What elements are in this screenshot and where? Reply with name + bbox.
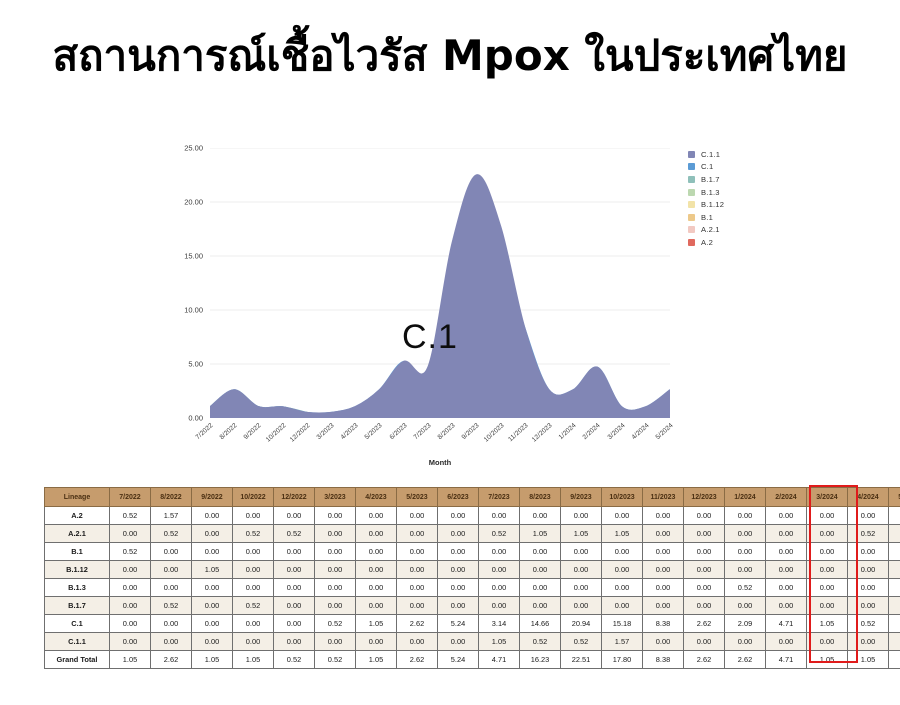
table-cell: 2.09 bbox=[725, 615, 766, 633]
table-cell: 0.00 bbox=[889, 597, 900, 615]
table-cell: 0.00 bbox=[684, 561, 725, 579]
table-cell: 3.14 bbox=[479, 615, 520, 633]
table-cell: 0.00 bbox=[766, 633, 807, 651]
table-cell: 0.00 bbox=[192, 633, 233, 651]
table-cell: 0.00 bbox=[479, 561, 520, 579]
legend-item-B-1-3[interactable]: B.1.3 bbox=[688, 186, 778, 199]
series-C-1-1 bbox=[210, 175, 670, 418]
table-cell: 1.05 bbox=[848, 651, 889, 669]
table-row: C.1.10.000.000.000.000.000.000.000.000.0… bbox=[45, 633, 900, 651]
legend-swatch-icon bbox=[688, 151, 695, 158]
table-cell: 0.00 bbox=[684, 507, 725, 525]
table-cell: 0.00 bbox=[889, 507, 900, 525]
table-cell: 0.00 bbox=[397, 597, 438, 615]
table-cell: 0.00 bbox=[110, 525, 151, 543]
table-cell: 0.00 bbox=[766, 543, 807, 561]
row-label-c-1-1: C.1.1 bbox=[45, 633, 110, 651]
x-tick-label: 8/2023 bbox=[437, 422, 457, 441]
table-cell: 0.00 bbox=[356, 507, 397, 525]
table-cell: 0.00 bbox=[602, 579, 643, 597]
table-cell: 2.62 bbox=[684, 651, 725, 669]
row-label-b-1-7: B.1.7 bbox=[45, 597, 110, 615]
table-cell: 1.05 bbox=[561, 525, 602, 543]
table-cell: 0.00 bbox=[151, 561, 192, 579]
x-tick-label: 10/2022 bbox=[264, 422, 287, 444]
table-cell: 0.00 bbox=[274, 633, 315, 651]
table-cell: 0.00 bbox=[602, 543, 643, 561]
chart-legend: C.1.1C.1B.1.7B.1.3B.1.12B.1A.2.1A.2 bbox=[688, 148, 778, 249]
legend-item-A-2[interactable]: A.2 bbox=[688, 236, 778, 249]
table-cell: 0.00 bbox=[397, 579, 438, 597]
legend-swatch-icon bbox=[688, 239, 695, 246]
column-header-month: 2/2024 bbox=[766, 488, 807, 507]
x-tick-label: 11/2023 bbox=[507, 422, 530, 443]
table-cell: 0.52 bbox=[233, 597, 274, 615]
column-header-month: 4/2023 bbox=[356, 488, 397, 507]
table-cell: 0.00 bbox=[725, 597, 766, 615]
table-cell: 0.00 bbox=[520, 579, 561, 597]
legend-label: A.2.1 bbox=[701, 225, 720, 234]
table-cell: 0.00 bbox=[889, 543, 900, 561]
column-header-month: 3/2023 bbox=[315, 488, 356, 507]
table-cell: 17.80 bbox=[602, 651, 643, 669]
table-cell: 0.00 bbox=[684, 597, 725, 615]
row-label-a-2-1: A.2.1 bbox=[45, 525, 110, 543]
table-cell: 0.00 bbox=[233, 579, 274, 597]
table-cell: 0.00 bbox=[315, 579, 356, 597]
table-cell: 0.00 bbox=[848, 507, 889, 525]
table-cell: 0.00 bbox=[110, 615, 151, 633]
x-tick-label: 10/2023 bbox=[482, 422, 505, 444]
table-cell: 0.52 bbox=[848, 525, 889, 543]
table-cell: 0.00 bbox=[684, 579, 725, 597]
table-cell: 0.00 bbox=[848, 579, 889, 597]
column-header-lineage: Lineage bbox=[45, 488, 110, 507]
table-cell: 1.05 bbox=[356, 615, 397, 633]
table-cell: 4.71 bbox=[766, 615, 807, 633]
table-cell: 2.62 bbox=[151, 651, 192, 669]
x-tick-label: 12/2023 bbox=[531, 422, 554, 444]
row-label-c-1: C.1 bbox=[45, 615, 110, 633]
x-tick-label: 3/2024 bbox=[606, 422, 626, 441]
legend-label: B.1.3 bbox=[701, 188, 720, 197]
column-header-month: 1/2024 bbox=[725, 488, 766, 507]
table-cell: 2.62 bbox=[889, 651, 900, 669]
table-cell: 0.00 bbox=[356, 633, 397, 651]
table-cell: 0.52 bbox=[725, 579, 766, 597]
table-cell: 0.00 bbox=[479, 597, 520, 615]
column-header-month: 7/2023 bbox=[479, 488, 520, 507]
table-cell: 0.00 bbox=[438, 579, 479, 597]
table-cell: 1.05 bbox=[110, 651, 151, 669]
table-cell: 0.00 bbox=[356, 597, 397, 615]
table-cell: 0.00 bbox=[725, 525, 766, 543]
table-cell: 0.00 bbox=[807, 633, 848, 651]
row-label-b-1-12: B.1.12 bbox=[45, 561, 110, 579]
table-cell: 0.52 bbox=[151, 525, 192, 543]
x-tick-label: 2/2024 bbox=[582, 422, 602, 441]
table-cell: 0.00 bbox=[397, 543, 438, 561]
table-cell: 0.00 bbox=[274, 615, 315, 633]
table-cell: 0.00 bbox=[479, 507, 520, 525]
table-cell: 0.00 bbox=[356, 579, 397, 597]
y-tick-label: 10.00 bbox=[184, 306, 203, 315]
column-header-month: 6/2023 bbox=[438, 488, 479, 507]
table-cell: 0.00 bbox=[110, 597, 151, 615]
x-tick-label: 9/2022 bbox=[243, 422, 263, 441]
table-cell: 0.00 bbox=[315, 507, 356, 525]
column-header-month: 3/2024 bbox=[807, 488, 848, 507]
table-row: A.2.10.000.520.000.520.520.000.000.000.0… bbox=[45, 525, 900, 543]
y-tick-label: 15.00 bbox=[184, 252, 203, 261]
table-cell: 1.05 bbox=[356, 651, 397, 669]
column-header-month: 10/2023 bbox=[602, 488, 643, 507]
x-tick-label: 8/2022 bbox=[219, 422, 239, 441]
plot-wrap: 0.005.0010.0015.0020.0025.00 7/20228/202… bbox=[210, 148, 670, 418]
table-cell: 0.00 bbox=[561, 561, 602, 579]
table-cell: 0.00 bbox=[520, 597, 561, 615]
table-cell: 0.00 bbox=[315, 597, 356, 615]
table-cell: 0.00 bbox=[151, 633, 192, 651]
table-cell: 0.00 bbox=[889, 579, 900, 597]
y-tick-label: 5.00 bbox=[188, 360, 203, 369]
table-cell: 0.00 bbox=[766, 525, 807, 543]
column-header-month: 4/2024 bbox=[848, 488, 889, 507]
table-cell: 0.00 bbox=[151, 579, 192, 597]
table-cell: 0.00 bbox=[233, 507, 274, 525]
table-cell: 0.00 bbox=[643, 561, 684, 579]
table-cell: 0.00 bbox=[766, 579, 807, 597]
legend-item-A-2-1[interactable]: A.2.1 bbox=[688, 224, 778, 237]
table-cell: 0.00 bbox=[397, 633, 438, 651]
table-cell: 0.00 bbox=[397, 561, 438, 579]
table-cell: 1.05 bbox=[602, 525, 643, 543]
row-label-grand-total: Grand Total bbox=[45, 651, 110, 669]
table-row-grand-total: Grand Total1.052.621.051.050.520.521.052… bbox=[45, 651, 900, 669]
table-cell: 0.00 bbox=[438, 543, 479, 561]
column-header-month: 12/2022 bbox=[274, 488, 315, 507]
table-cell: 22.51 bbox=[561, 651, 602, 669]
table-cell: 0.00 bbox=[479, 543, 520, 561]
table-cell: 0.00 bbox=[725, 633, 766, 651]
table-cell: 5.24 bbox=[438, 651, 479, 669]
legend-item-B-1[interactable]: B.1 bbox=[688, 211, 778, 224]
table-cell: 0.52 bbox=[110, 507, 151, 525]
table-cell: 0.00 bbox=[315, 543, 356, 561]
table-cell: 0.00 bbox=[848, 597, 889, 615]
table-row: C.10.000.000.000.000.000.521.052.625.243… bbox=[45, 615, 900, 633]
table-cell: 0.00 bbox=[315, 561, 356, 579]
column-header-month: 9/2023 bbox=[561, 488, 602, 507]
table-cell: 0.00 bbox=[233, 615, 274, 633]
legend-item-B-1-12[interactable]: B.1.12 bbox=[688, 198, 778, 211]
table-cell: 0.52 bbox=[274, 525, 315, 543]
legend-label: B.1 bbox=[701, 213, 713, 222]
table-cell: 0.52 bbox=[315, 615, 356, 633]
table-cell: 1.57 bbox=[602, 633, 643, 651]
table-header: Lineage7/20228/20229/202210/202212/20223… bbox=[45, 488, 900, 507]
x-tick-label: 4/2023 bbox=[340, 422, 360, 441]
table-cell: 0.00 bbox=[848, 543, 889, 561]
table-cell: 8.38 bbox=[643, 651, 684, 669]
table-cell: 0.00 bbox=[274, 543, 315, 561]
table-cell: 0.00 bbox=[192, 597, 233, 615]
x-tick-label: 4/2024 bbox=[630, 422, 650, 441]
table-cell: 2.62 bbox=[397, 651, 438, 669]
table-cell: 0.00 bbox=[889, 561, 900, 579]
legend-item-C-1[interactable]: C.1 bbox=[688, 161, 778, 174]
table-cell: 8.38 bbox=[643, 615, 684, 633]
table-cell: 0.00 bbox=[643, 543, 684, 561]
table-cell: 0.00 bbox=[807, 597, 848, 615]
column-header-month: 12/2023 bbox=[684, 488, 725, 507]
table-cell: 0.00 bbox=[643, 579, 684, 597]
x-tick-label: 5/2023 bbox=[364, 422, 384, 441]
table-cell: 1.05 bbox=[479, 633, 520, 651]
table-cell: 0.00 bbox=[766, 507, 807, 525]
legend-label: A.2 bbox=[701, 238, 713, 247]
page-title: สถานการณ์เชื้อไวรัส Mpox ในประเทศไทย bbox=[0, 32, 900, 79]
table-cell: 0.00 bbox=[110, 561, 151, 579]
table-cell: 0.52 bbox=[561, 633, 602, 651]
column-header-month: 10/2022 bbox=[233, 488, 274, 507]
table-cell: 0.00 bbox=[643, 507, 684, 525]
x-tick-label: 1/2024 bbox=[558, 422, 578, 441]
x-tick-label: 7/2023 bbox=[412, 422, 432, 441]
table-cell: 0.00 bbox=[479, 579, 520, 597]
table-cell: 0.00 bbox=[192, 543, 233, 561]
table-cell: 0.00 bbox=[274, 579, 315, 597]
table-cell: 0.00 bbox=[561, 507, 602, 525]
table-cell: 0.00 bbox=[602, 507, 643, 525]
table-cell: 0.00 bbox=[110, 579, 151, 597]
table-cell: 0.00 bbox=[889, 525, 900, 543]
table-body: A.20.521.570.000.000.000.000.000.000.000… bbox=[45, 507, 900, 669]
table-cell: 0.00 bbox=[684, 525, 725, 543]
y-tick-label: 25.00 bbox=[184, 144, 203, 153]
legend-label: B.1.7 bbox=[701, 175, 720, 184]
table-cell: 0.00 bbox=[356, 561, 397, 579]
x-tick-label: 12/2022 bbox=[289, 422, 312, 444]
lineage-table: Lineage7/20228/20229/202210/202212/20223… bbox=[44, 487, 900, 669]
table-cell: 0.00 bbox=[192, 615, 233, 633]
lineage-table-container: Lineage7/20228/20229/202210/202212/20223… bbox=[44, 487, 856, 669]
table-cell: 2.62 bbox=[684, 615, 725, 633]
table-cell: 0.52 bbox=[520, 633, 561, 651]
table-cell: 0.00 bbox=[438, 561, 479, 579]
table-cell: 0.00 bbox=[561, 597, 602, 615]
table-cell: 0.00 bbox=[602, 561, 643, 579]
mpox-lineage-area-chart: No. of Detection (%) 0.005.0010.0015.002… bbox=[150, 140, 770, 480]
column-header-month: 8/2023 bbox=[520, 488, 561, 507]
table-cell: 0.00 bbox=[520, 561, 561, 579]
legend-item-B-1-7[interactable]: B.1.7 bbox=[688, 173, 778, 186]
table-cell: 0.52 bbox=[151, 597, 192, 615]
table-cell: 0.00 bbox=[602, 597, 643, 615]
table-cell: 0.00 bbox=[848, 633, 889, 651]
column-header-month: 5/2024 bbox=[889, 488, 900, 507]
table-cell: 1.05 bbox=[233, 651, 274, 669]
table-cell: 16.23 bbox=[520, 651, 561, 669]
table-cell: 2.62 bbox=[889, 615, 900, 633]
table-cell: 0.52 bbox=[479, 525, 520, 543]
legend-swatch-icon bbox=[688, 201, 695, 208]
table-cell: 0.00 bbox=[438, 597, 479, 615]
table-cell: 0.00 bbox=[684, 543, 725, 561]
table-cell: 0.00 bbox=[356, 525, 397, 543]
table-cell: 0.00 bbox=[110, 633, 151, 651]
plot-area bbox=[210, 148, 670, 418]
table-cell: 0.00 bbox=[684, 633, 725, 651]
column-header-month: 7/2022 bbox=[110, 488, 151, 507]
table-cell: 0.00 bbox=[889, 633, 900, 651]
legend-label: C.1 bbox=[701, 162, 713, 171]
table-row: B.1.120.000.001.050.000.000.000.000.000.… bbox=[45, 561, 900, 579]
table-cell: 0.00 bbox=[192, 507, 233, 525]
table-cell: 0.00 bbox=[561, 579, 602, 597]
row-label-a-2: A.2 bbox=[45, 507, 110, 525]
table-cell: 0.00 bbox=[848, 561, 889, 579]
column-header-month: 9/2022 bbox=[192, 488, 233, 507]
table-cell: 0.00 bbox=[315, 525, 356, 543]
table-cell: 0.00 bbox=[274, 561, 315, 579]
x-tick-label: 5/2024 bbox=[655, 422, 675, 441]
table-row: B.1.70.000.520.000.520.000.000.000.000.0… bbox=[45, 597, 900, 615]
x-tick-label: 9/2023 bbox=[461, 422, 481, 441]
table-cell: 0.00 bbox=[807, 579, 848, 597]
table-cell: 1.05 bbox=[520, 525, 561, 543]
table-cell: 0.00 bbox=[233, 561, 274, 579]
series-area bbox=[210, 175, 670, 418]
table-cell: 4.71 bbox=[766, 651, 807, 669]
table-cell: 0.00 bbox=[725, 561, 766, 579]
table-cell: 0.00 bbox=[151, 615, 192, 633]
legend-swatch-icon bbox=[688, 176, 695, 183]
table-cell: 0.00 bbox=[151, 543, 192, 561]
table-header-row: Lineage7/20228/20229/202210/202212/20223… bbox=[45, 488, 900, 507]
column-header-month: 5/2023 bbox=[397, 488, 438, 507]
table-cell: 2.62 bbox=[397, 615, 438, 633]
table-cell: 0.00 bbox=[438, 525, 479, 543]
table-cell: 0.00 bbox=[643, 597, 684, 615]
table-cell: 0.00 bbox=[233, 543, 274, 561]
table-cell: 14.66 bbox=[520, 615, 561, 633]
table-cell: 0.00 bbox=[315, 633, 356, 651]
table-cell: 0.00 bbox=[438, 633, 479, 651]
legend-label: B.1.12 bbox=[701, 200, 724, 209]
table-cell: 0.00 bbox=[807, 561, 848, 579]
table-cell: 20.94 bbox=[561, 615, 602, 633]
legend-label: C.1.1 bbox=[701, 150, 720, 159]
table-cell: 0.52 bbox=[233, 525, 274, 543]
table-cell: 0.52 bbox=[315, 651, 356, 669]
table-cell: 0.00 bbox=[561, 543, 602, 561]
x-tick-label: 3/2023 bbox=[316, 422, 336, 441]
table-cell: 0.00 bbox=[192, 525, 233, 543]
table-cell: 4.71 bbox=[479, 651, 520, 669]
table-cell: 0.00 bbox=[643, 633, 684, 651]
y-tick-label: 0.00 bbox=[188, 414, 203, 423]
legend-swatch-icon bbox=[688, 163, 695, 170]
legend-swatch-icon bbox=[688, 189, 695, 196]
table-cell: 0.00 bbox=[192, 579, 233, 597]
table-cell: 0.00 bbox=[274, 507, 315, 525]
y-tick-label: 20.00 bbox=[184, 198, 203, 207]
table-cell: 0.52 bbox=[848, 615, 889, 633]
table-cell: 0.00 bbox=[807, 507, 848, 525]
stacked-area-svg bbox=[210, 148, 670, 418]
table-cell: 1.05 bbox=[192, 561, 233, 579]
table-cell: 0.00 bbox=[520, 543, 561, 561]
table-cell: 1.05 bbox=[807, 615, 848, 633]
table-cell: 15.18 bbox=[602, 615, 643, 633]
x-tick-label: 7/2022 bbox=[195, 422, 215, 441]
table-row: B.1.30.000.000.000.000.000.000.000.000.0… bbox=[45, 579, 900, 597]
table-cell: 0.00 bbox=[397, 507, 438, 525]
x-tick-label: 6/2023 bbox=[388, 422, 408, 441]
table-cell: 0.00 bbox=[233, 633, 274, 651]
table-cell: 0.00 bbox=[356, 543, 397, 561]
table-cell: 0.00 bbox=[807, 543, 848, 561]
table-cell: 1.57 bbox=[151, 507, 192, 525]
table-cell: 0.00 bbox=[520, 507, 561, 525]
table-cell: 5.24 bbox=[438, 615, 479, 633]
table-cell: 0.00 bbox=[807, 525, 848, 543]
row-label-b-1: B.1 bbox=[45, 543, 110, 561]
table-cell: 0.00 bbox=[725, 507, 766, 525]
table-cell: 0.00 bbox=[766, 597, 807, 615]
table-cell: 2.62 bbox=[725, 651, 766, 669]
table-cell: 0.52 bbox=[274, 651, 315, 669]
table-cell: 0.00 bbox=[397, 525, 438, 543]
table-cell: 0.00 bbox=[643, 525, 684, 543]
legend-swatch-icon bbox=[688, 226, 695, 233]
table-cell: 1.05 bbox=[192, 651, 233, 669]
legend-item-C-1-1[interactable]: C.1.1 bbox=[688, 148, 778, 161]
legend-swatch-icon bbox=[688, 214, 695, 221]
table-row: B.10.520.000.000.000.000.000.000.000.000… bbox=[45, 543, 900, 561]
column-header-month: 8/2022 bbox=[151, 488, 192, 507]
table-cell: 1.05 bbox=[807, 651, 848, 669]
table-cell: 0.00 bbox=[766, 561, 807, 579]
table-cell: 0.00 bbox=[274, 597, 315, 615]
table-cell: 0.00 bbox=[438, 507, 479, 525]
table-cell: 0.00 bbox=[725, 543, 766, 561]
table-row: A.20.521.570.000.000.000.000.000.000.000… bbox=[45, 507, 900, 525]
column-header-month: 11/2023 bbox=[643, 488, 684, 507]
x-axis-title: Month bbox=[210, 458, 670, 467]
table-cell: 0.52 bbox=[110, 543, 151, 561]
row-label-b-1-3: B.1.3 bbox=[45, 579, 110, 597]
